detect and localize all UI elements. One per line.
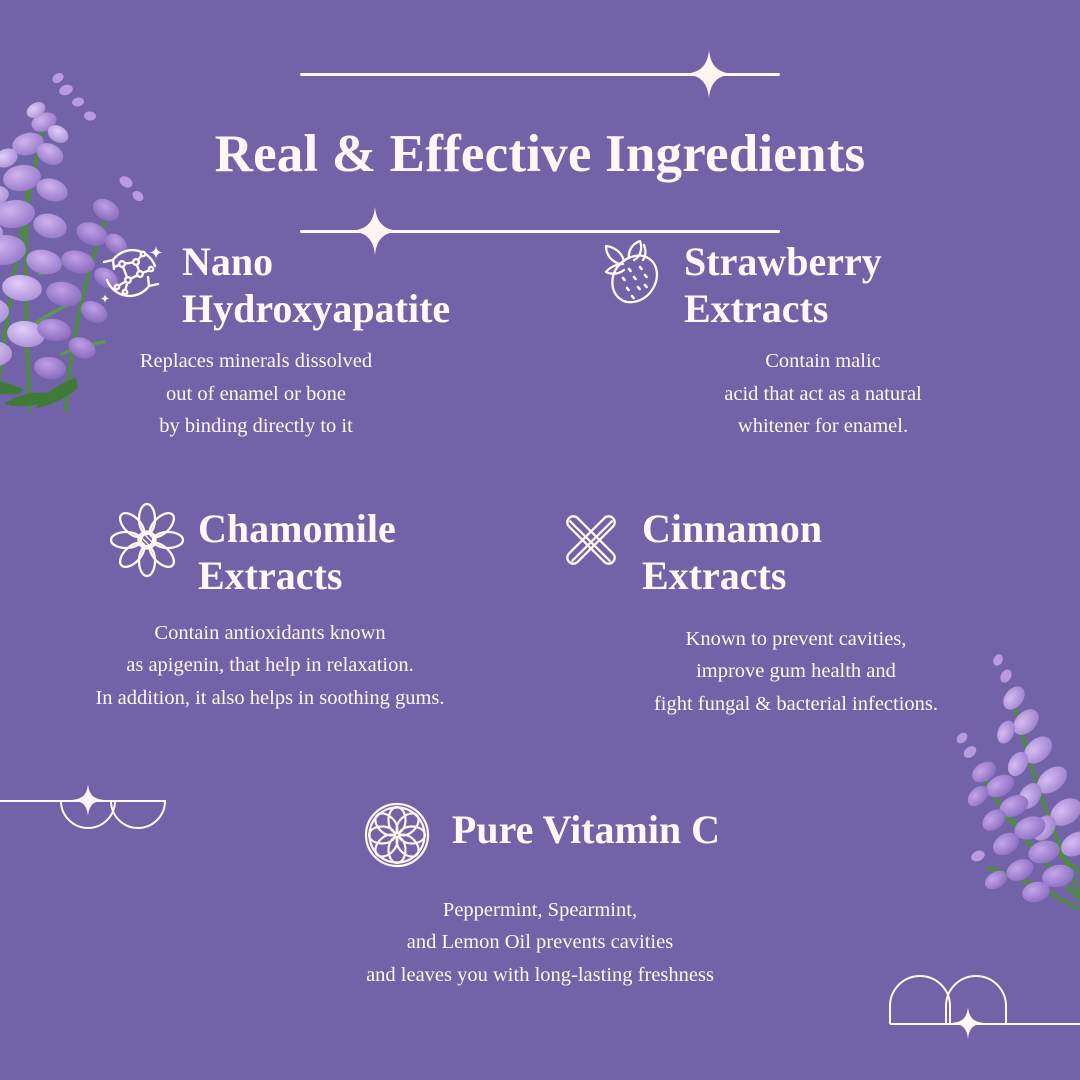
ingredient-name: Nano Hydroxyapatite	[182, 236, 450, 332]
divider-top	[300, 52, 780, 96]
ingredient-heading: Chamomile Extracts	[0, 503, 540, 599]
ingredient-heading: Pure Vitamin C	[0, 798, 1080, 872]
ingredient-row: Nano Hydroxyapatite Replaces minerals di…	[0, 236, 1080, 443]
strawberry-icon	[596, 236, 670, 310]
ingredient-name: Cinnamon Extracts	[642, 503, 822, 599]
ingredient-name: Pure Vitamin C	[452, 798, 720, 850]
chamomile-flower-icon	[110, 503, 184, 577]
ingredient-description: Contain antioxidants known as apigenin, …	[0, 617, 540, 714]
ingredient-row: Chamomile Extracts Contain antioxidants …	[0, 443, 1080, 721]
ingredient-description: Peppermint, Spearmint, and Lemon Oil pre…	[0, 894, 1080, 991]
ingredient-description: Known to prevent cavities, improve gum h…	[540, 623, 1080, 720]
ingredient-description: Contain malic acid that act as a natural…	[540, 345, 1080, 442]
ingredient-heading: Cinnamon Extracts	[540, 503, 1080, 599]
ingredient-description: Replaces minerals dissolved out of ename…	[0, 345, 540, 442]
cinnamon-sticks-icon	[554, 503, 628, 577]
ingredient-nano-hydroxyapatite: Nano Hydroxyapatite Replaces minerals di…	[0, 236, 540, 443]
ingredient-cinnamon-extracts: Cinnamon Extracts Known to prevent cavit…	[540, 503, 1080, 721]
ingredient-name: Strawberry Extracts	[684, 236, 882, 332]
page-title: Real & Effective Ingredients	[0, 128, 1080, 181]
four-point-star-icon	[685, 50, 733, 98]
ingredient-heading: Nano Hydroxyapatite	[0, 236, 540, 332]
ingredient-heading: Strawberry Extracts	[540, 236, 1080, 332]
poster-canvas: Real & Effective Ingredients	[0, 0, 1080, 1080]
citrus-slice-icon	[360, 798, 434, 872]
ingredient-pure-vitamin-c: Pure Vitamin C Peppermint, Spearmint, an…	[0, 798, 1080, 991]
ingredients-grid: Nano Hydroxyapatite Replaces minerals di…	[0, 236, 1080, 991]
ingredient-name: Chamomile Extracts	[198, 503, 396, 599]
molecule-cycle-icon	[94, 236, 168, 310]
ingredient-row: Pure Vitamin C Peppermint, Spearmint, an…	[0, 720, 1080, 991]
header: Real & Effective Ingredients	[0, 52, 1080, 253]
ingredient-chamomile-extracts: Chamomile Extracts Contain antioxidants …	[0, 503, 540, 721]
ingredient-strawberry-extracts: Strawberry Extracts Contain malic acid t…	[540, 236, 1080, 443]
